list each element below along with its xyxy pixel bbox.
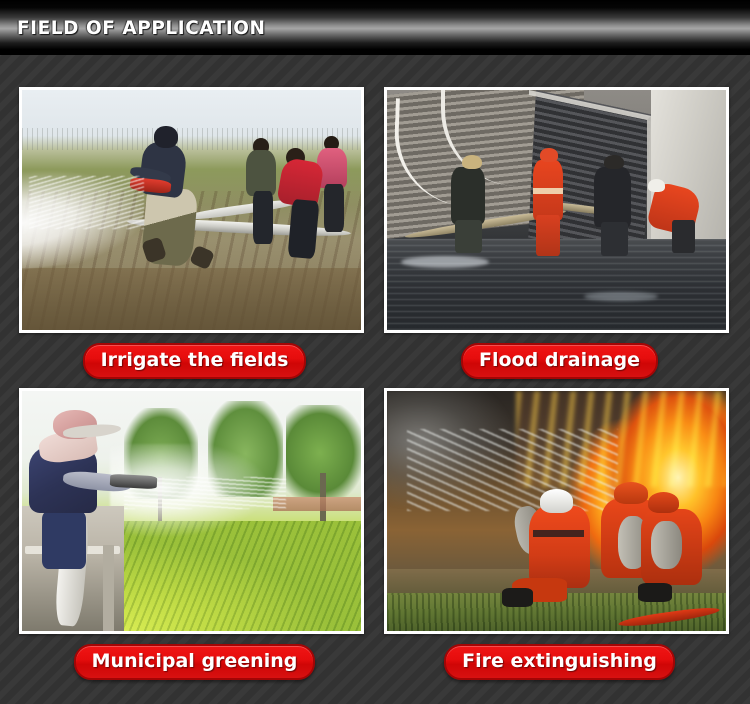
distant-treeline: [22, 128, 361, 150]
irrigate-the-fields-photo-frame[interactable]: [19, 87, 364, 333]
caption-badge-fire-extinguishing[interactable]: Fire extinguishing: [444, 644, 675, 680]
firefighter-front-body: [529, 506, 590, 588]
fire-extinguishing-photo-frame[interactable]: [384, 388, 729, 634]
municipal-greening-photo-frame[interactable]: [19, 388, 364, 634]
firefighter-front-harness: [533, 530, 584, 537]
firefighter-bending-legs: [672, 220, 696, 254]
greening-worker-leg: [42, 511, 86, 569]
firefighter-front-white-helmet: [540, 489, 574, 513]
worker-black-helmet: [604, 155, 624, 169]
flood-drainage-photo-frame[interactable]: [384, 87, 729, 333]
worker-dark-jacket-helmet: [462, 155, 482, 169]
worker-dark-jacket-body: [451, 167, 485, 225]
water-reflection-left: [401, 256, 489, 268]
application-gallery-grid: Irrigate the fields: [0, 55, 750, 704]
irrigate-the-fields-photo: [22, 90, 361, 330]
water-mist-cloud: [110, 444, 320, 550]
firefighter-reflective-stripe: [533, 188, 564, 193]
caption-badge-irrigate-the-fields[interactable]: Irrigate the fields: [83, 343, 307, 379]
caption-badge-municipal-greening[interactable]: Municipal greening: [74, 644, 316, 680]
firefighter-orange-center-helmet: [540, 148, 559, 162]
flood-drainage-photo: [387, 90, 726, 330]
bystander-green-body: [246, 150, 277, 196]
caption-badge-flood-drainage[interactable]: Flood drainage: [461, 343, 658, 379]
firefighter-orange-center-legs: [536, 215, 560, 256]
gallery-item-flood-drainage[interactable]: Flood drainage: [384, 87, 735, 379]
fire-water-jet: [407, 429, 617, 511]
firefighter-middle-helmet: [614, 482, 648, 504]
gallery-item-municipal-greening[interactable]: Municipal greening: [19, 388, 370, 680]
platform-post: [103, 545, 113, 631]
greening-hose-nozzle: [110, 474, 158, 490]
bystander-pink-legs: [324, 184, 344, 232]
bystander-green-legs: [253, 191, 273, 244]
gallery-item-irrigate-the-fields[interactable]: Irrigate the fields: [19, 87, 370, 379]
flood-drainage-badge-row: Flood drainage: [384, 343, 735, 379]
fire-extinguishing-badge-row: Fire extinguishing: [384, 644, 735, 680]
bare-soil-foreground: [22, 268, 361, 330]
water-spray-streaks: [29, 176, 144, 229]
water-reflection-right: [584, 292, 659, 302]
gallery-item-fire-extinguishing[interactable]: Fire extinguishing: [384, 388, 735, 680]
irrigate-the-fields-badge-row: Irrigate the fields: [19, 343, 370, 379]
municipal-greening-photo: [22, 391, 361, 631]
page-title: FIELD OF APPLICATION: [17, 17, 266, 39]
municipal-greening-badge-row: Municipal greening: [19, 644, 370, 680]
firefighter-front-boot: [502, 588, 533, 607]
firefighter-bending-helmet: [648, 179, 665, 192]
section-header-bar: FIELD OF APPLICATION: [0, 0, 750, 55]
firefighter-rear-air-tank: [651, 521, 682, 569]
worker-black-legs: [601, 222, 628, 256]
firefighter-rear-helmet: [648, 492, 679, 514]
hose-helper-legs: [287, 199, 319, 259]
fire-extinguishing-photo: [387, 391, 726, 631]
worker-black-body: [594, 167, 631, 227]
worker-dark-jacket-legs: [455, 220, 482, 254]
firefighter-rear-boot: [638, 583, 672, 602]
